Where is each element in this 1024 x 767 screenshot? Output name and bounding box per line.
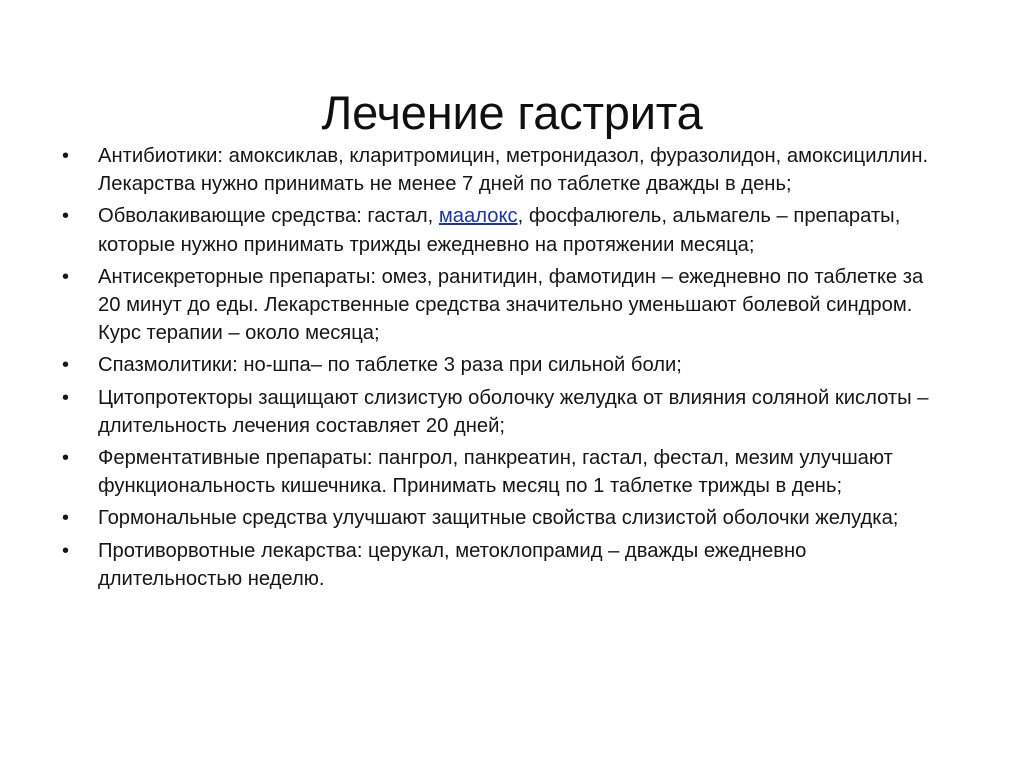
list-item-text: Цитопротекторы защищают слизистую оболоч… <box>98 384 932 440</box>
list-item-coating-agents: • Обволакивающие средства: гастал, маало… <box>54 202 932 258</box>
bullet-dot-icon: • <box>62 351 76 379</box>
list-item-text: Ферментативные препараты: пангрол, панкр… <box>98 444 932 500</box>
list-item-text: Обволакивающие средства: гастал, маалокс… <box>98 202 932 258</box>
list-item-cytoprotectors: • Цитопротекторы защищают слизистую обол… <box>54 384 932 440</box>
list-item-antiemetic: • Противорвотные лекарства: церукал, мет… <box>54 537 932 593</box>
list-item-text: Спазмолитики: но-шпа– по таблетке 3 раза… <box>98 351 932 379</box>
maalox-link[interactable]: маалокс <box>439 205 518 227</box>
list-item-text: Антисекреторные препараты: омез, ранитид… <box>98 263 932 348</box>
text-before-link: Обволакивающие средства: гастал, <box>98 205 439 227</box>
page-title: Лечение гастрита <box>0 87 1024 139</box>
slide-canvas: Лечение гастрита • Антибиотики: амоксикл… <box>0 0 1024 767</box>
bullet-dot-icon: • <box>62 202 76 230</box>
list-item-text: Антибиотики: амоксиклав, кларитромицин, … <box>98 142 932 198</box>
list-item-antibiotics: • Антибиотики: амоксиклав, кларитромицин… <box>54 142 932 198</box>
bullet-dot-icon: • <box>62 384 76 412</box>
list-item-spasmolytics: • Спазмолитики: но-шпа– по таблетке 3 ра… <box>54 351 932 379</box>
bullet-dot-icon: • <box>62 263 76 291</box>
list-item-antisecretory: • Антисекреторные препараты: омез, ранит… <box>54 263 932 348</box>
bullet-dot-icon: • <box>62 444 76 472</box>
bullet-dot-icon: • <box>62 537 76 565</box>
list-item-text: Противорвотные лекарства: церукал, меток… <box>98 537 932 593</box>
bullet-dot-icon: • <box>62 504 76 532</box>
list-item-enzymatic: • Ферментативные препараты: пангрол, пан… <box>54 444 932 500</box>
list-item-hormonal: • Гормональные средства улучшают защитны… <box>54 504 932 532</box>
list-item-text: Гормональные средства улучшают защитные … <box>98 504 932 532</box>
bullet-dot-icon: • <box>62 142 76 170</box>
treatment-bullet-list: • Антибиотики: амоксиклав, кларитромицин… <box>54 142 932 593</box>
